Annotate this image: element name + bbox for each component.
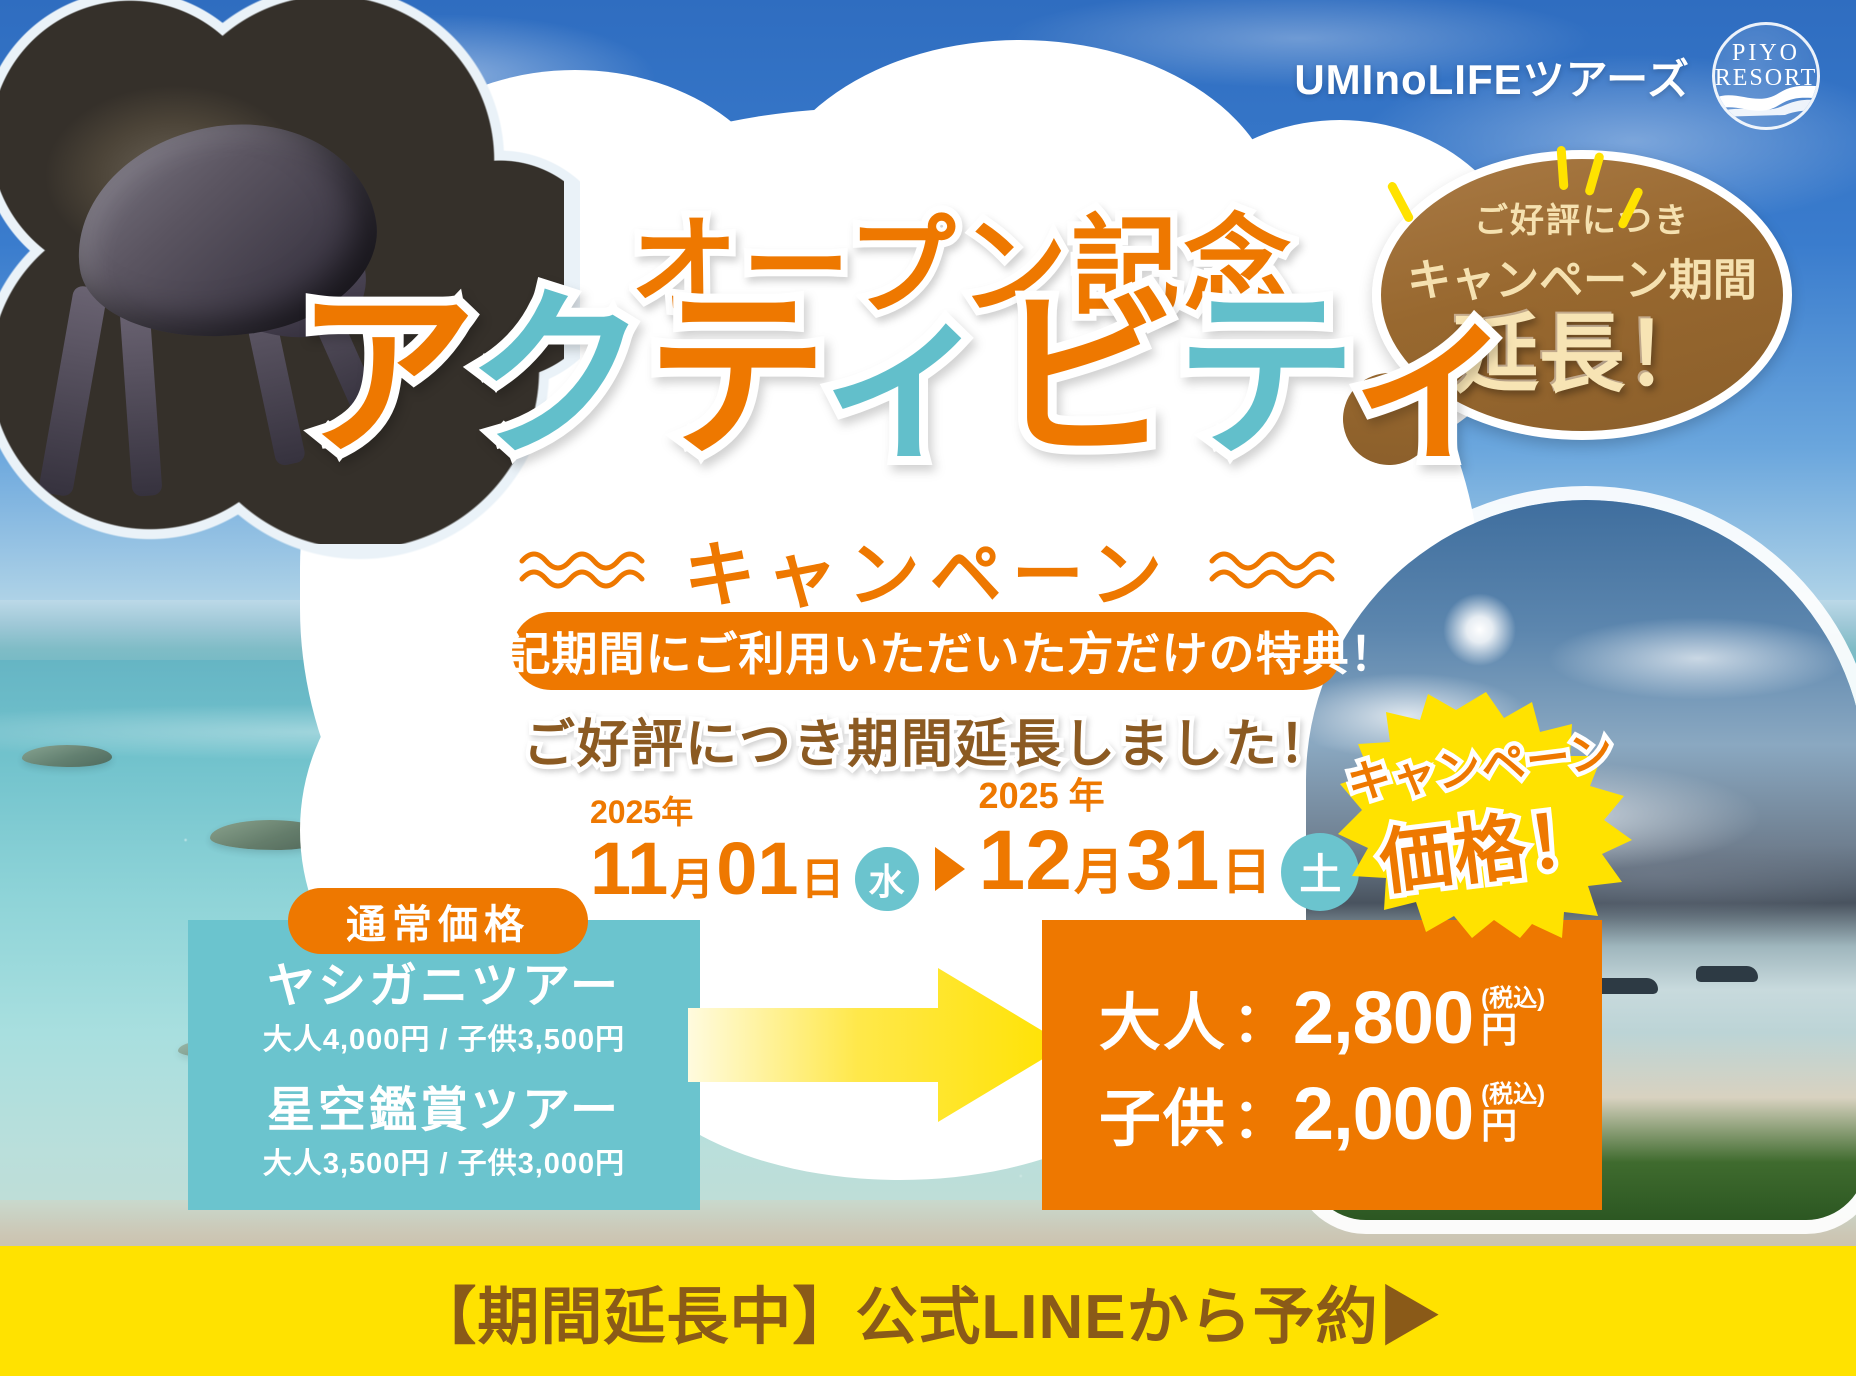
campaign-price-box: 大人 ： 2,800 (税込) 円 子供 ： 2,000 (税込) 円 xyxy=(1042,920,1602,1210)
crab-leg xyxy=(119,305,162,497)
price-colon: ： xyxy=(1233,978,1287,1057)
campaign-period: 2025年 11 月 01 日 水 2025 年 12 月 31 日 土 xyxy=(590,778,1359,913)
wave-icon xyxy=(1712,71,1820,117)
price-amount: 2,800 xyxy=(1293,975,1473,1060)
cta-text[interactable]: 【期間延長中】公式LINEから予約▶ xyxy=(414,1266,1441,1356)
header: UMInoLIFEツアーズ PIYO RESORT xyxy=(1294,22,1820,130)
campaign-word-row: キャンペーン xyxy=(0,516,1856,621)
price-row-adult: 大人 ： 2,800 (税込) 円 xyxy=(1099,972,1545,1062)
price-label: 子供 xyxy=(1099,1068,1227,1158)
yen-unit: 円 xyxy=(1481,1011,1517,1049)
wave-decoration-icon xyxy=(518,545,648,593)
campaign-word: キャンペーン xyxy=(684,516,1172,621)
price-row-child: 子供 ： 2,000 (税込) 円 xyxy=(1099,1068,1545,1158)
start-weekday-badge: 水 xyxy=(855,847,919,911)
month-unit: 月 xyxy=(670,858,714,902)
price-label: 大人 xyxy=(1099,972,1227,1062)
tour-price: 大人4,000円 / 子供3,500円 xyxy=(188,1016,700,1058)
end-day: 31 xyxy=(1126,818,1219,902)
yen-unit: 円 xyxy=(1481,1107,1517,1145)
spacer xyxy=(188,1058,700,1084)
tour-name: 星空鑑賞ツアー xyxy=(188,1084,700,1138)
wave-decoration-icon xyxy=(1208,545,1338,593)
tour-name: ヤシガニツアー xyxy=(188,960,700,1014)
bubble-line-1: ご好評につき xyxy=(1474,193,1690,242)
tax-note: (税込) xyxy=(1481,1082,1545,1107)
end-year: 2025 年 xyxy=(979,778,1360,814)
start-month: 11 xyxy=(590,832,668,906)
end-date: 12 月 31 日 土 xyxy=(979,818,1360,913)
title-char: ィ xyxy=(815,274,995,478)
start-date: 11 月 01 日 水 xyxy=(590,832,919,913)
price-tax-group: (税込) 円 xyxy=(1481,1082,1545,1145)
jetski-icon xyxy=(1596,978,1658,994)
arrow-right-icon xyxy=(935,847,965,891)
piyo-resort-logo: PIYO RESORT xyxy=(1712,22,1820,130)
brand-name: UMInoLIFEツアーズ xyxy=(1294,46,1690,107)
crab-leg xyxy=(38,285,108,498)
benefit-pill-text: 下記期間にご利用いただいた方だけの特典！ xyxy=(457,618,1396,684)
day-unit: 日 xyxy=(801,858,845,902)
logo-line-1: PIYO xyxy=(1732,41,1800,65)
day-unit: 日 xyxy=(1221,847,1271,897)
tax-note: (税込) xyxy=(1481,986,1545,1011)
title-line-2: アクティビティ xyxy=(295,285,1524,467)
title-char: ィ xyxy=(1344,274,1524,478)
title-char: ビ xyxy=(995,274,1175,478)
end-month: 12 xyxy=(979,818,1072,902)
title-char: テ xyxy=(1175,274,1344,478)
period-start: 2025年 11 月 01 日 水 xyxy=(590,796,919,913)
start-day: 01 xyxy=(716,832,798,906)
start-year: 2025年 xyxy=(590,796,919,828)
campaign-price-badge: キャンペーン 価格！ xyxy=(1336,688,1636,938)
period-end: 2025 年 12 月 31 日 土 xyxy=(979,778,1360,913)
tour-price: 大人3,500円 / 子供3,000円 xyxy=(188,1140,700,1182)
jetski-icon xyxy=(1696,966,1758,982)
regular-price-badge: 通常価格 xyxy=(288,888,588,954)
title-char: ア xyxy=(295,274,466,478)
transition-arrow-icon xyxy=(688,960,1068,1130)
price-amount: 2,000 xyxy=(1293,1071,1473,1156)
title-char: テ xyxy=(646,274,815,478)
price-tax-group: (税込) 円 xyxy=(1481,986,1545,1049)
regular-price-box: 通常価格 ヤシガニツアー 大人4,000円 / 子供3,500円 星空鑑賞ツアー… xyxy=(188,920,700,1210)
title-char: ク xyxy=(466,274,646,478)
benefit-pill: 下記期間にご利用いただいた方だけの特典！ xyxy=(512,612,1342,690)
price-colon: ： xyxy=(1233,1074,1287,1153)
badge-text: キャンペーン 価格！ xyxy=(1322,671,1650,956)
month-unit: 月 xyxy=(1074,847,1124,897)
line-reservation-cta-bar[interactable]: 【期間延長中】公式LINEから予約▶ xyxy=(0,1246,1856,1376)
